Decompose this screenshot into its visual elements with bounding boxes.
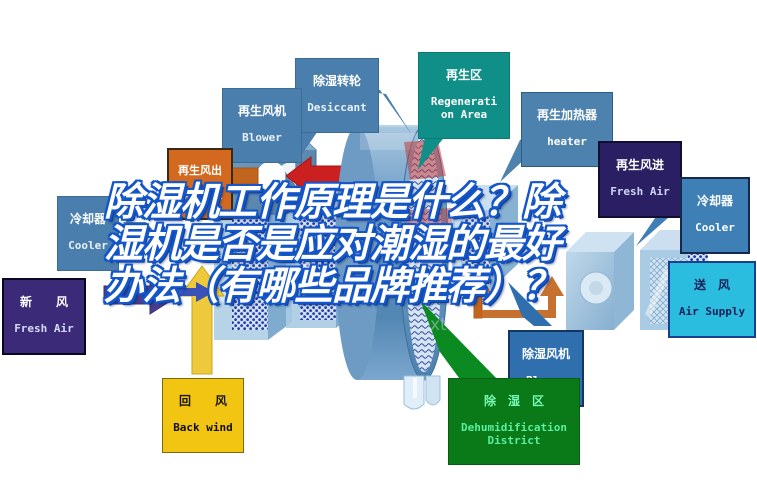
diagram-canvas: xt 除湿转轮 Desiccant 再生风机 Blower 再生区 Regene… — [0, 0, 757, 488]
label-regen-blower-cn: 再生风机 — [228, 105, 296, 119]
label-back-wind-cn: 回 风 — [168, 395, 238, 409]
label-cooler-left-cn: 冷却器 — [63, 213, 113, 227]
label-regen-blower-en: Blower — [228, 132, 296, 145]
label-back-wind-en: Back wind — [168, 422, 238, 435]
label-fresh-air: 新 风 Fresh Air — [2, 278, 86, 355]
label-desiccant-rotor-cn: 除湿转轮 — [301, 75, 373, 89]
label-air-supply: 送 风 Air Supply — [668, 261, 756, 338]
label-fresh-air-en: Fresh Air — [9, 323, 79, 336]
label-regen-air-in: 再生风进 Fresh Air — [598, 141, 682, 218]
label-cooler-right-en: Cooler — [687, 222, 743, 235]
label-dehumidification-district-cn: 除 湿 区 — [454, 395, 574, 409]
label-cooler-left-en: Cooler — [63, 240, 113, 253]
label-regeneration-area: 再生区 Regenerati on Area — [418, 52, 510, 139]
watermark-text: xt — [430, 315, 447, 335]
label-cooler-right: 冷却器 Cooler — [680, 177, 750, 254]
label-cooler-left: 冷却器 Cooler — [57, 196, 119, 271]
label-exhaust-cn: 再生风出 — [174, 165, 226, 178]
label-desiccant-rotor: 除湿转轮 Desiccant — [295, 58, 379, 133]
label-regen-heater-cn: 再生加热器 — [527, 109, 607, 123]
label-desiccant-rotor-en: Desiccant — [301, 102, 373, 115]
label-fresh-air-cn: 新 风 — [9, 296, 79, 310]
label-back-wind: 回 风 Back wind — [162, 378, 244, 453]
label-regen-air-in-cn: 再生风进 — [605, 159, 675, 173]
label-exhaust: 再生风出 Exhaust — [167, 148, 233, 220]
label-regen-air-in-en: Fresh Air — [605, 186, 675, 199]
label-dehum-blower-cn: 除湿风机 — [515, 348, 577, 362]
heater-coil-group — [452, 185, 518, 290]
label-exhaust-en: Exhaust — [174, 190, 226, 203]
label-regen-blower: 再生风机 Blower — [222, 88, 302, 163]
label-regen-heater-en: heater — [527, 136, 607, 149]
label-air-supply-cn: 送 风 — [675, 279, 749, 293]
label-air-supply-en: Air Supply — [675, 306, 749, 319]
label-dehumidification-district: 除 湿 区 Dehumidification District — [448, 378, 580, 465]
label-cooler-right-cn: 冷却器 — [687, 195, 743, 209]
drain-pan-group — [404, 376, 440, 409]
label-regeneration-area-cn: 再生区 — [424, 69, 504, 83]
label-dehumidification-district-en: Dehumidification District — [454, 422, 574, 447]
dehum-blower-body-group — [566, 232, 634, 330]
label-regeneration-area-en: Regenerati on Area — [424, 96, 504, 121]
